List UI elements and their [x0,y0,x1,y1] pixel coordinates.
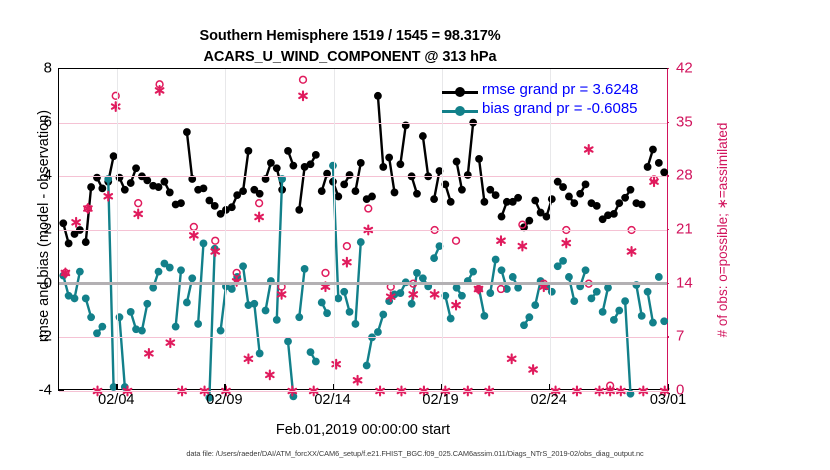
x-tick-label: 02/19 [422,392,458,408]
x-tick-label: 02/24 [531,392,567,408]
legend-entry-rmse[interactable]: rmse grand pr = 3.6248 [440,82,665,101]
gridline-horizontal [59,176,667,177]
y-tick-right-label: 28 [676,167,693,184]
legend-marker-rmse [455,87,465,97]
gridline-horizontal [59,230,667,231]
legend-marker-bias [455,106,465,116]
legend-label-bias: bias grand pr = -0.6085 [482,100,638,117]
gridline-vertical [117,69,118,389]
series-assimilated [62,86,669,395]
y-tick-left-label: -4 [39,382,52,399]
y-axis-right-ticks: 423528211470 [676,68,716,390]
x-axis-label: Feb.01,2019 00:00:00 start [58,422,668,438]
figure-canvas: Southern Hemisphere 1519 / 1545 = 98.317… [0,0,830,470]
y-tick-left-label: 8 [44,60,52,77]
zero-reference-line [59,282,667,285]
x-tick-label: 02/14 [314,392,350,408]
y-tick-right-label: 42 [676,60,693,77]
legend-label-rmse: rmse grand pr = 3.6248 [482,81,638,98]
x-tick-label: 02/04 [98,392,134,408]
x-tick-mark [224,384,225,390]
gridline-horizontal [59,123,667,124]
chart-legend: rmse grand pr = 3.6248 bias grand pr = -… [440,82,665,120]
gridline-vertical [225,69,226,389]
y-tick-right-label: 14 [676,274,693,291]
chart-title: Southern Hemisphere 1519 / 1545 = 98.317… [0,26,700,68]
footer-data-file: data file: /Users/raeder/DAI/ATM_forcXX/… [0,449,830,458]
y-tick-right-label: 35 [676,113,693,130]
y-axis-right-label: # of obs: o=possible; ∗=assimilated [715,85,731,375]
chart-title-line2: ACARS_U_WIND_COMPONENT @ 313 hPa [0,47,700,68]
x-axis-ticks: 02/0402/0902/1402/1902/2403/01 [58,392,668,414]
x-tick-mark [333,384,334,390]
x-tick-mark [441,384,442,390]
x-tick-label: 02/09 [206,392,242,408]
x-tick-mark [549,384,550,390]
x-tick-label: 03/01 [650,392,686,408]
y-tick-right-label: 21 [676,221,693,238]
x-tick-mark [116,384,117,390]
chart-title-line1: Southern Hemisphere 1519 / 1545 = 98.317… [0,26,700,47]
legend-entry-bias[interactable]: bias grand pr = -0.6085 [440,101,665,120]
y-axis-left-label: rmse and bias (model - observation) [36,81,52,371]
gridline-vertical [334,69,335,389]
gridline-horizontal [59,337,667,338]
y-tick-right-label: 7 [676,328,684,345]
x-tick-mark [668,384,669,390]
